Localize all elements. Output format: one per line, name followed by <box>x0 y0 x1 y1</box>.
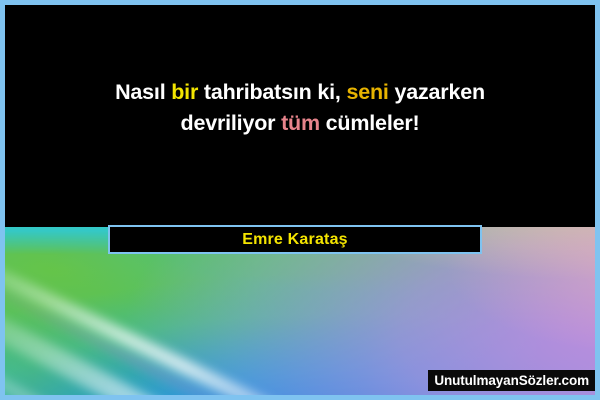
quote-highlight-bir: bir <box>171 80 198 104</box>
quote-word-plain: cümleler! <box>320 111 420 135</box>
quote-line-1: Nasıl bir tahribatsın ki, seni yazarken <box>115 80 485 104</box>
quote-highlight-tum: tüm <box>281 111 320 135</box>
author-name: Emre Karataş <box>242 231 348 249</box>
quote-highlight-seni: seni <box>346 80 388 104</box>
quote-word-plain: tahribatsın ki, <box>198 80 346 104</box>
author-box: Emre Karataş <box>108 225 482 254</box>
quote-word-plain: yazarken <box>389 80 485 104</box>
quote-card: Nasıl bir tahribatsın ki, seni yazarken … <box>0 0 600 400</box>
quote-word-plain: devriliyor <box>181 111 282 135</box>
quote-text: Nasıl bir tahribatsın ki, seni yazarken … <box>5 77 595 139</box>
watermark-badge: UnutulmayanSözler.com <box>428 370 595 391</box>
quote-word-plain: Nasıl <box>115 80 171 104</box>
watermark-text: UnutulmayanSözler.com <box>434 373 589 388</box>
quote-line-2: devriliyor tüm cümleler! <box>181 111 420 135</box>
